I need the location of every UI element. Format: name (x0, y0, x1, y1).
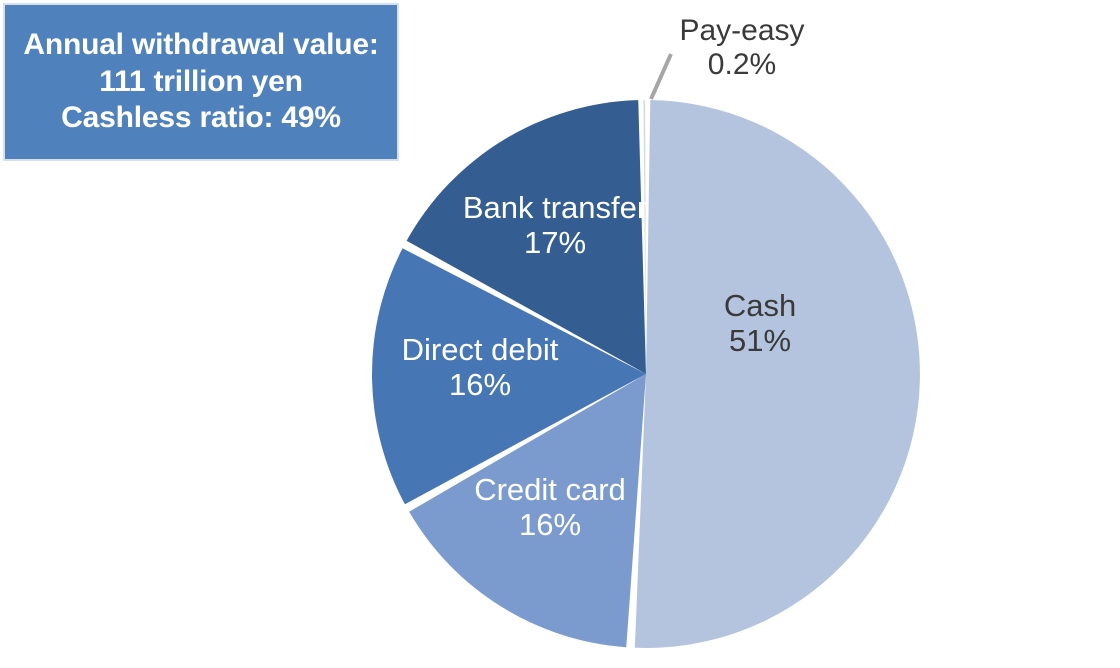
pie-slice-cash[interactable] (635, 100, 920, 648)
pie-slice-group (372, 100, 920, 648)
annotation-line-2: 111 trillion yen (99, 64, 303, 101)
annotation-line-1: Annual withdrawal value: (23, 27, 378, 64)
chart-canvas: Annual withdrawal value: 111 trillion ye… (0, 0, 1120, 668)
pay-easy-leader-line (651, 54, 671, 99)
annotation-line-3: Cashless ratio: 49% (61, 100, 341, 137)
annotation-callout: Annual withdrawal value: 111 trillion ye… (3, 3, 399, 161)
